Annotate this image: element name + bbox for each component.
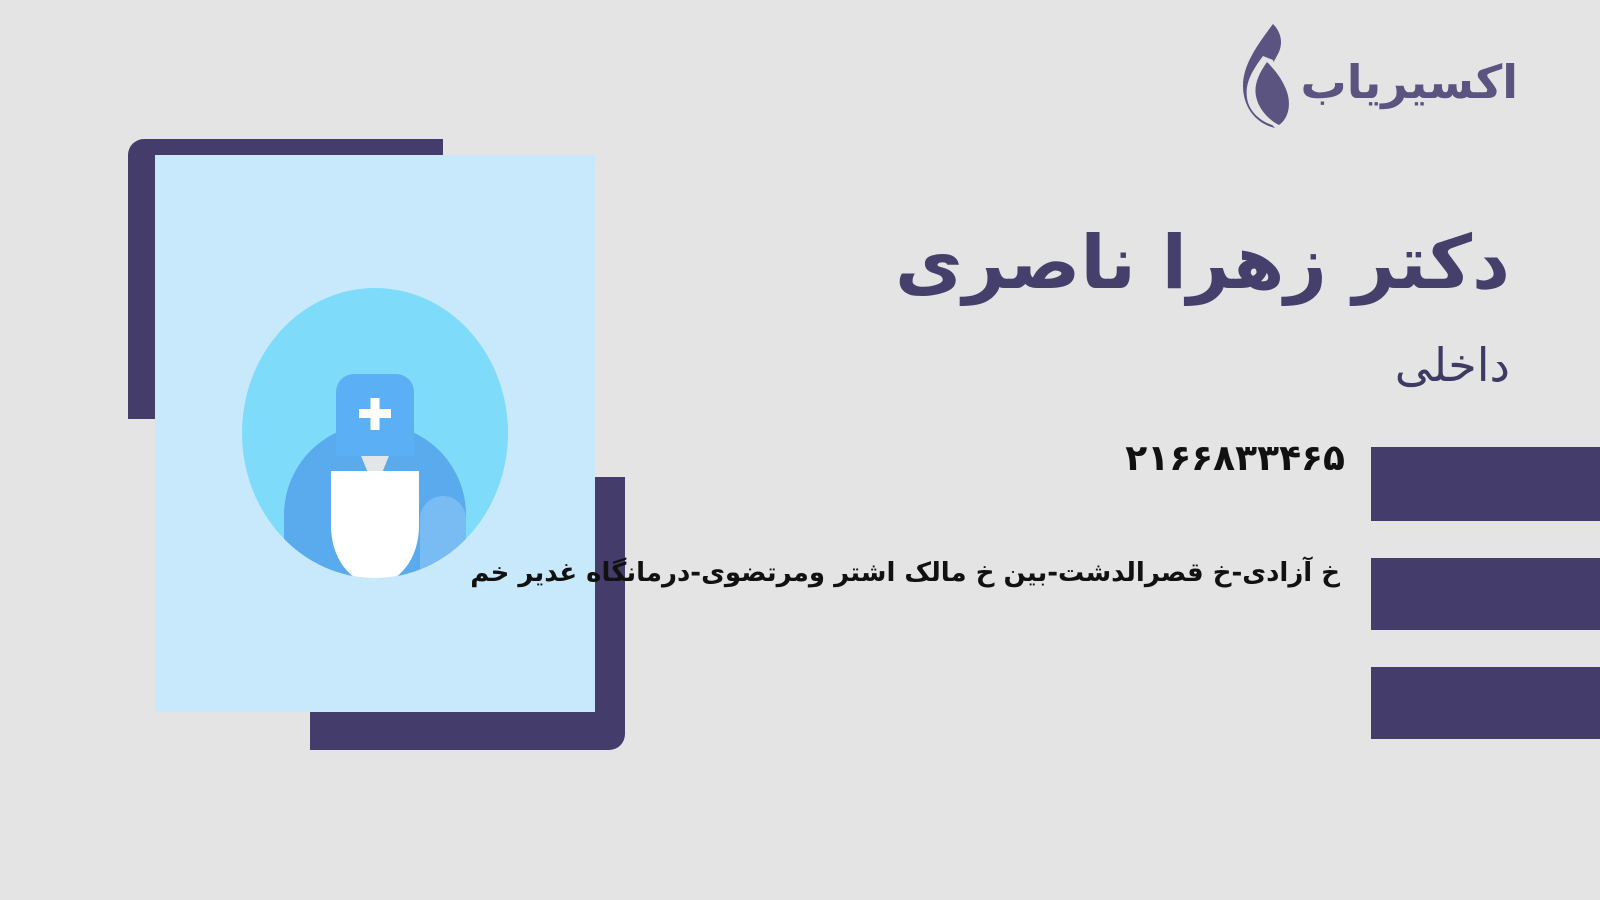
- doctor-address: خ آزادی-خ قصرالدشت-بین خ مالک اشتر ومرتض…: [470, 558, 1340, 588]
- medical-cross-icon: [336, 374, 414, 456]
- doctor-illustration: [128, 139, 625, 750]
- doctor-phone[interactable]: ۲۱۶۶۸۳۳۴۶۵: [1125, 438, 1345, 479]
- uniform-shade: [420, 496, 466, 578]
- brand-logo-text: اکسیریاب: [1301, 59, 1519, 105]
- doctor-profile-card: اکسیریاب: [0, 0, 1600, 900]
- cross-horizontal-bar: [359, 409, 391, 418]
- decor-bar-1: [1371, 447, 1600, 521]
- doctor-name: دکتر زهرا ناصری: [895, 222, 1510, 305]
- flame-drop-icon: [1233, 22, 1291, 130]
- head-shape: [331, 471, 419, 578]
- decor-bar-2: [1371, 558, 1600, 630]
- decor-bar-3: [1371, 667, 1600, 739]
- doctor-avatar-icon: [242, 288, 508, 578]
- doctor-photo-card: [155, 155, 595, 712]
- brand-logo[interactable]: اکسیریاب: [1233, 22, 1519, 130]
- doctor-specialty: داخلی: [1395, 338, 1510, 392]
